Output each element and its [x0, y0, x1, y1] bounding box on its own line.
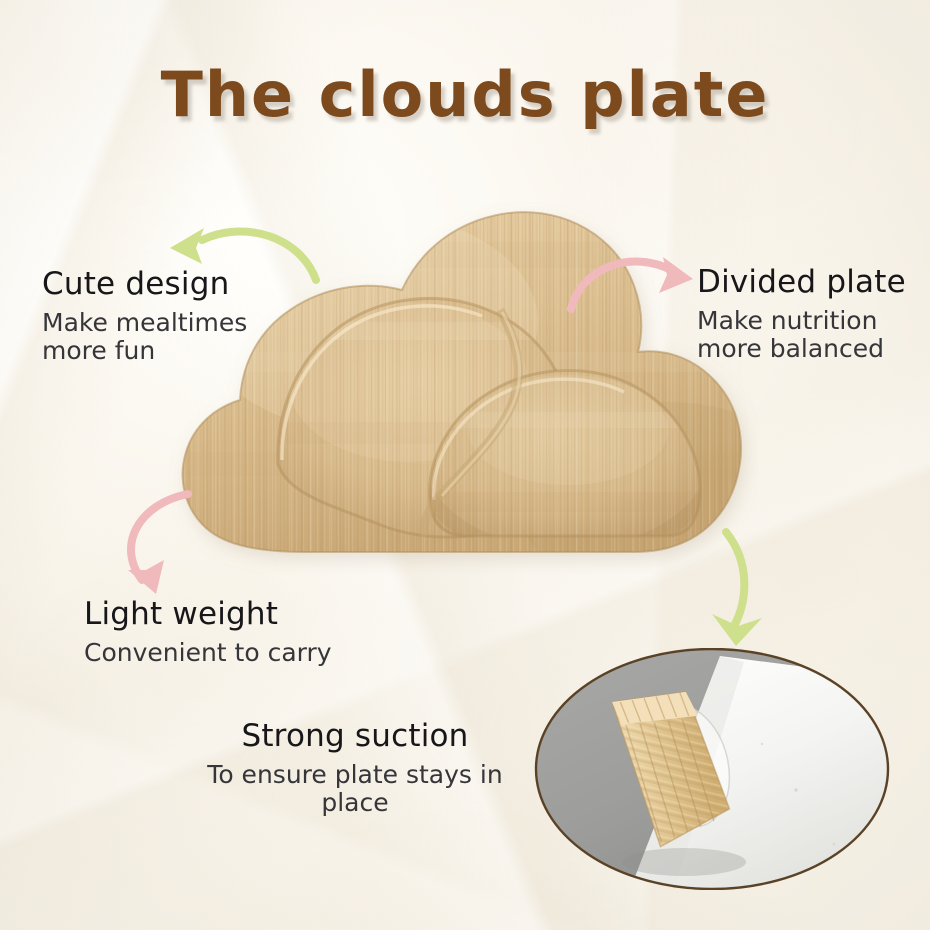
- callout-cute-design: Cute design Make mealtimes more fun: [42, 266, 247, 365]
- callout-light-weight: Light weight Convenient to carry: [84, 596, 332, 667]
- callout-strong-suction: Strong suction To ensure plate stays in …: [170, 718, 540, 817]
- callout-heading: Divided plate: [697, 264, 906, 300]
- callout-subtitle: To ensure plate stays in place: [170, 761, 540, 817]
- page-title: The clouds plate: [0, 58, 930, 131]
- callout-subtitle: Make nutrition more balanced: [697, 307, 906, 363]
- curved-arrow-pink-down: [112, 482, 242, 602]
- callout-divided-plate: Divided plate Make nutrition more balanc…: [697, 264, 906, 363]
- curved-arrow-pink-right: [563, 243, 713, 323]
- infographic-page: The clouds plate: [0, 0, 930, 930]
- callout-heading: Light weight: [84, 596, 332, 632]
- curved-arrow-green-down: [690, 522, 800, 662]
- callout-heading: Cute design: [42, 266, 247, 302]
- suction-demo-svg: [534, 648, 890, 890]
- callout-subtitle: Make mealtimes more fun: [42, 309, 247, 365]
- callout-subtitle: Convenient to carry: [84, 639, 332, 667]
- suction-demo-inset: [534, 648, 890, 890]
- callout-heading: Strong suction: [170, 718, 540, 754]
